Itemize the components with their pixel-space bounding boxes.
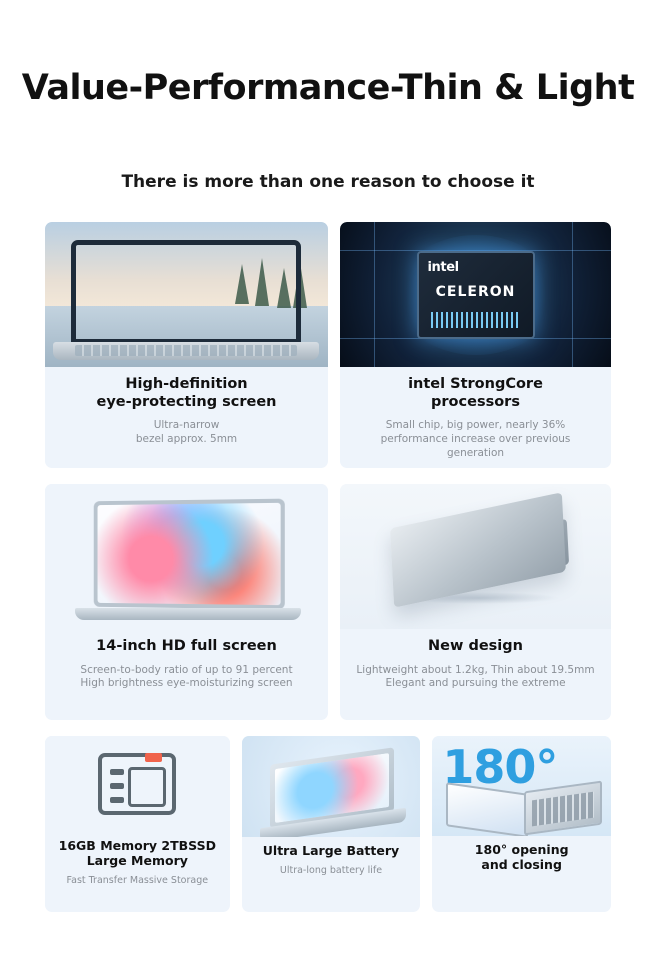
hd-screen-title-line2: eye-protecting screen — [51, 394, 322, 412]
chip-model-label: CELERON — [419, 284, 533, 300]
hinge-title-line1: 180° opening — [438, 842, 605, 857]
hinge-title: 180° opening and closing — [438, 842, 605, 872]
new-design-text: New design Lightweight about 1.2kg, Thin… — [340, 638, 611, 691]
card-hd-screen: High-definition eye-protecting screen Ul… — [45, 222, 328, 468]
full-screen-scene — [45, 484, 328, 629]
new-design-sub-line2: Elegant and pursuing the extreme — [346, 677, 605, 691]
cpu-sub-line2: performance increase over previous — [346, 433, 605, 447]
hd-screen-title-line1: High-definition — [51, 376, 322, 394]
memory-title: 16GB Memory 2TBSSD Large Memory — [51, 838, 224, 868]
cpu-scene: intel CELERON — [340, 222, 611, 367]
full-screen-image — [45, 484, 328, 629]
chip-brand-label: intel — [428, 260, 459, 275]
page-subtitle: There is more than one reason to choose … — [0, 172, 656, 192]
cpu-sub-line3: generation — [346, 447, 605, 461]
promo-page: Value-Performance-Thin & Light There is … — [0, 0, 656, 960]
full-screen-sub: Screen-to-body ratio of up to 91 percent… — [51, 664, 322, 691]
hd-screen-sub-line2: bezel approx. 5mm — [51, 433, 322, 447]
pcb-trace — [374, 222, 375, 367]
keyboard-keys — [75, 345, 297, 356]
feature-row-1: High-definition eye-protecting screen Ul… — [45, 222, 611, 468]
page-title: Value-Performance-Thin & Light — [0, 68, 656, 108]
cpu-sub-line1: Small chip, big power, nearly 36% — [346, 419, 605, 433]
card-new-design: New design Lightweight about 1.2kg, Thin… — [340, 484, 611, 720]
memory-card-notch — [145, 753, 162, 762]
battery-image — [242, 736, 421, 837]
memory-image — [45, 736, 230, 832]
new-design-image — [340, 484, 611, 629]
cpu-text: intel StrongCore processors Small chip, … — [340, 376, 611, 460]
battery-title: Ultra Large Battery — [248, 843, 415, 858]
card-hinge: 180° 180° opening and closing — [432, 736, 611, 912]
full-screen-sub-line2: High brightness eye-moisturizing screen — [51, 677, 322, 691]
hd-screen-sub: Ultra-narrow bezel approx. 5mm — [51, 419, 322, 446]
card-full-screen: 14-inch HD full screen Screen-to-body ra… — [45, 484, 328, 720]
memory-card-icon — [98, 753, 176, 815]
card-battery: Ultra Large Battery Ultra-long battery l… — [242, 736, 421, 912]
laptop-upper-shell — [390, 492, 566, 607]
card-cpu: intel CELERON intel StrongCore processor… — [340, 222, 611, 468]
cpu-title-line2: processors — [346, 394, 605, 412]
new-design-scene — [340, 484, 611, 629]
new-design-sub-line1: Lightweight about 1.2kg, Thin about 19.5… — [346, 664, 605, 678]
feature-row-3: 16GB Memory 2TBSSD Large Memory Fast Tra… — [45, 736, 611, 912]
hinge-title-line2: and closing — [438, 857, 605, 872]
memory-scene — [45, 736, 230, 832]
pcb-trace — [572, 222, 573, 367]
cpu-image: intel CELERON — [340, 222, 611, 367]
feature-row-2: 14-inch HD full screen Screen-to-body ra… — [45, 484, 611, 720]
new-design-sub: Lightweight about 1.2kg, Thin about 19.5… — [346, 664, 605, 691]
colorful-wallpaper — [98, 503, 281, 605]
new-design-title: New design — [346, 638, 605, 656]
hinge-image: 180° — [432, 736, 611, 836]
card-memory: 16GB Memory 2TBSSD Large Memory Fast Tra… — [45, 736, 230, 912]
hd-screen-sub-line1: Ultra-narrow — [51, 419, 322, 433]
cpu-title: intel StrongCore processors — [346, 376, 605, 411]
cpu-chip: intel CELERON — [417, 251, 535, 339]
memory-card-chip — [128, 767, 166, 807]
memory-card-pin — [110, 783, 124, 789]
full-screen-sub-line1: Screen-to-body ratio of up to 91 percent — [51, 664, 322, 678]
battery-scene — [242, 736, 421, 837]
cpu-sub: Small chip, big power, nearly 36% perfor… — [346, 419, 605, 460]
keyboard-keys — [532, 792, 594, 827]
memory-title-line1: 16GB Memory 2TBSSD — [51, 838, 224, 853]
hd-screen-text: High-definition eye-protecting screen Ul… — [45, 376, 328, 447]
hinge-text: 180° opening and closing — [432, 842, 611, 872]
laptop-lid-frame — [71, 240, 301, 344]
chip-pins — [431, 312, 521, 328]
full-screen-text: 14-inch HD full screen Screen-to-body ra… — [45, 638, 328, 691]
battery-text: Ultra Large Battery Ultra-long battery l… — [242, 843, 421, 877]
battery-sub: Ultra-long battery life — [248, 865, 415, 877]
laptop-base — [75, 608, 301, 620]
hd-screen-image — [45, 222, 328, 367]
hd-screen-title: High-definition eye-protecting screen — [51, 376, 322, 411]
memory-card-pin — [110, 769, 124, 775]
full-screen-title: 14-inch HD full screen — [51, 638, 322, 656]
laptop-lid — [94, 499, 285, 610]
hinge-scene: 180° — [432, 736, 611, 836]
landscape-scene — [45, 222, 328, 367]
memory-card-pin — [110, 797, 124, 803]
memory-text: 16GB Memory 2TBSSD Large Memory Fast Tra… — [45, 838, 230, 887]
laptop-keyboard-flat — [524, 781, 602, 836]
cpu-title-line1: intel StrongCore — [346, 376, 605, 394]
memory-title-line2: Large Memory — [51, 853, 224, 868]
memory-sub: Fast Transfer Massive Storage — [51, 875, 224, 887]
